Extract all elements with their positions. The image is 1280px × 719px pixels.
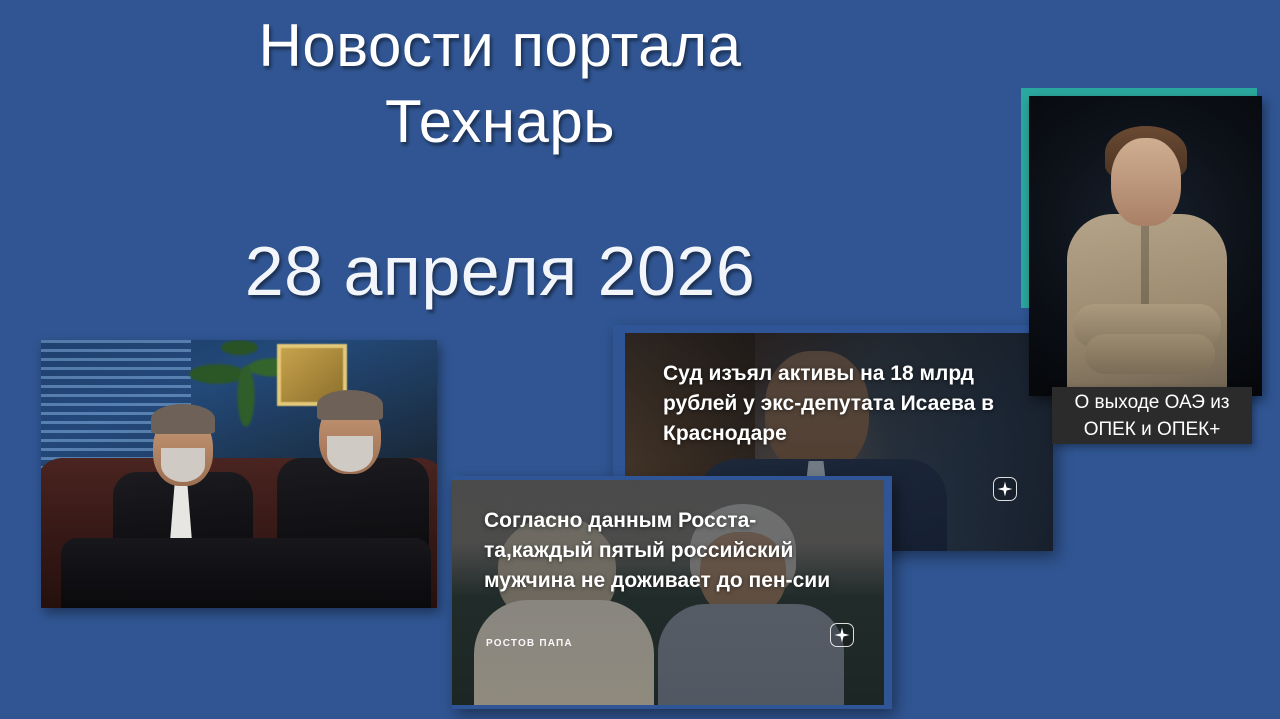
news-slide: Новости портала Технарь 28 апреля 2026 <box>0 0 1280 719</box>
portrait-arm-lower <box>1085 334 1215 374</box>
seated-legs <box>61 538 431 608</box>
portrait-head <box>1111 138 1181 226</box>
card-headline: Суд изъял активы на 18 млрд рублей у экс… <box>663 359 1015 449</box>
portrait-shirt-placket <box>1141 220 1149 310</box>
card-headline: Согласно данным Росста-та,каждый пятый р… <box>484 506 836 596</box>
news-card-rosstat-pension[interactable]: Согласно данным Росста-та,каждый пятый р… <box>452 476 892 709</box>
expert-portrait-photo <box>1029 96 1262 396</box>
portrait-caption: О выходе ОАЭ из ОПЕК и ОПЕК+ <box>1052 387 1252 444</box>
card-byline: РОСТОВ ПАПА <box>486 638 573 649</box>
zen-sparkle-icon[interactable] <box>993 477 1017 501</box>
two-officials-photo <box>41 340 437 608</box>
slide-date: 28 апреля 2026 <box>0 228 1000 314</box>
page-title: Новости портала Технарь <box>0 8 1000 160</box>
zen-sparkle-icon[interactable] <box>830 623 854 647</box>
